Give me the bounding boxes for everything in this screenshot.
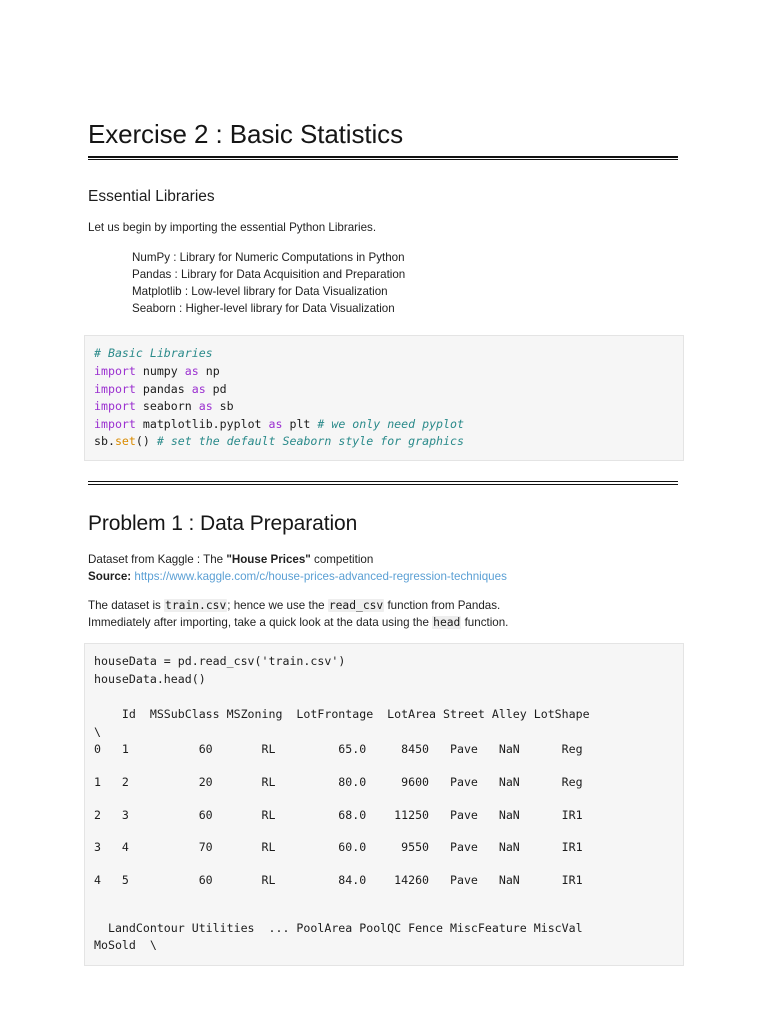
title-underline-rule <box>88 156 678 161</box>
code-function-name: set <box>115 434 136 448</box>
code-assignment: houseData = pd.read_csv( <box>94 654 262 668</box>
output-footer-continuation: MoSold \ <box>94 937 673 955</box>
row-spacer <box>94 824 673 839</box>
page-title: Exercise 2 : Basic Statistics <box>88 120 680 156</box>
section-heading-problem-1: Problem 1 : Data Preparation <box>88 511 680 536</box>
table-row: 0 1 60 RL 65.0 8450 Pave NaN Reg <box>94 741 673 759</box>
row-spacer <box>94 857 673 872</box>
output-table-header: Id MSSubClass MSZoning LotFrontage LotAr… <box>94 706 673 724</box>
code-module-name: numpy <box>136 364 185 378</box>
code-module-name: seaborn <box>136 399 199 413</box>
desc-text-d: Immediately after importing, take a quic… <box>88 616 432 629</box>
code-call-parens: () <box>136 434 157 448</box>
libraries-intro-text: Let us begin by importing the essential … <box>88 220 680 237</box>
code-source-lines: houseData = pd.read_csv('train.csv') hou… <box>94 654 345 686</box>
code-close-paren: ) <box>338 654 345 668</box>
row-spacer <box>94 890 673 905</box>
inline-code-read-csv: read_csv <box>328 599 384 612</box>
dataset-description-paragraph: The dataset is train.csv; hence we use t… <box>88 598 680 632</box>
code-alias: pd <box>206 382 227 396</box>
table-row: 2 3 60 RL 68.0 11250 Pave NaN IR1 <box>94 807 673 825</box>
dataset-competition-name: "House Prices" <box>226 553 310 566</box>
code-keyword-import: import <box>94 382 136 396</box>
code-block-read-csv-output[interactable]: houseData = pd.read_csv('train.csv') hou… <box>84 643 684 965</box>
code-keyword-as: as <box>199 399 213 413</box>
code-keyword-as: as <box>269 417 283 431</box>
code-module-name: matplotlib.pyplot <box>136 417 269 431</box>
code-keyword-import: import <box>94 364 136 378</box>
code-comment: # we only need pyplot <box>317 417 464 431</box>
desc-text-a: The dataset is <box>88 599 164 612</box>
section-divider-rule <box>88 481 678 485</box>
desc-text-c: function from Pandas. <box>384 599 500 612</box>
output-footer-columns: LandContour Utilities ... PoolArea PoolQ… <box>94 920 673 938</box>
code-object-ref: sb. <box>94 434 115 448</box>
code-module-name: pandas <box>136 382 192 396</box>
dataset-line-suffix: competition <box>311 553 374 566</box>
row-spacer <box>94 759 673 774</box>
code-comment: # set the default Seaborn style for grap… <box>157 434 464 448</box>
row-spacer <box>94 905 673 920</box>
kaggle-source-link[interactable]: https://www.kaggle.com/c/house-prices-ad… <box>134 570 506 583</box>
code-alias: sb <box>213 399 234 413</box>
dataset-line-prefix: Dataset from Kaggle : The <box>88 553 226 566</box>
table-row: 3 4 70 RL 60.0 9550 Pave NaN IR1 <box>94 839 673 857</box>
source-label: Source: <box>88 570 134 583</box>
code-alias: plt <box>282 417 317 431</box>
table-row: 1 2 20 RL 80.0 9600 Pave NaN Reg <box>94 774 673 792</box>
code-alias: np <box>199 364 220 378</box>
inline-code-train-csv: train.csv <box>164 599 227 612</box>
code-keyword-import: import <box>94 417 136 431</box>
code-block-imports[interactable]: # Basic Libraries import numpy as np imp… <box>84 335 684 461</box>
list-item: Pandas : Library for Data Acquisition an… <box>132 266 680 283</box>
row-spacer <box>94 792 673 807</box>
code-head-call: houseData.head() <box>94 672 206 686</box>
list-item: NumPy : Library for Numeric Computations… <box>132 249 680 266</box>
code-keyword-import: import <box>94 399 136 413</box>
document-page: Exercise 2 : Basic Statistics Essential … <box>0 0 768 1024</box>
code-string-literal: 'train.csv' <box>262 654 339 668</box>
library-description-list: NumPy : Library for Numeric Computations… <box>88 249 680 318</box>
desc-text-e: function. <box>461 616 508 629</box>
inline-code-head: head <box>432 616 461 629</box>
code-keyword-as: as <box>185 364 199 378</box>
code-keyword-as: as <box>192 382 206 396</box>
table-row: 4 5 60 RL 84.0 14260 Pave NaN IR1 <box>94 872 673 890</box>
code-comment: # Basic Libraries <box>94 346 213 360</box>
list-item: Matplotlib : Low-level library for Data … <box>132 283 680 300</box>
document-content: Exercise 2 : Basic Statistics Essential … <box>88 120 680 966</box>
output-header-continuation: \ <box>94 724 673 742</box>
section-heading-essential-libraries: Essential Libraries <box>88 188 680 207</box>
desc-text-b: ; hence we use the <box>227 599 328 612</box>
list-item: Seaborn : Higher-level library for Data … <box>132 300 680 317</box>
dataset-source-paragraph: Dataset from Kaggle : The "House Prices"… <box>88 552 680 586</box>
